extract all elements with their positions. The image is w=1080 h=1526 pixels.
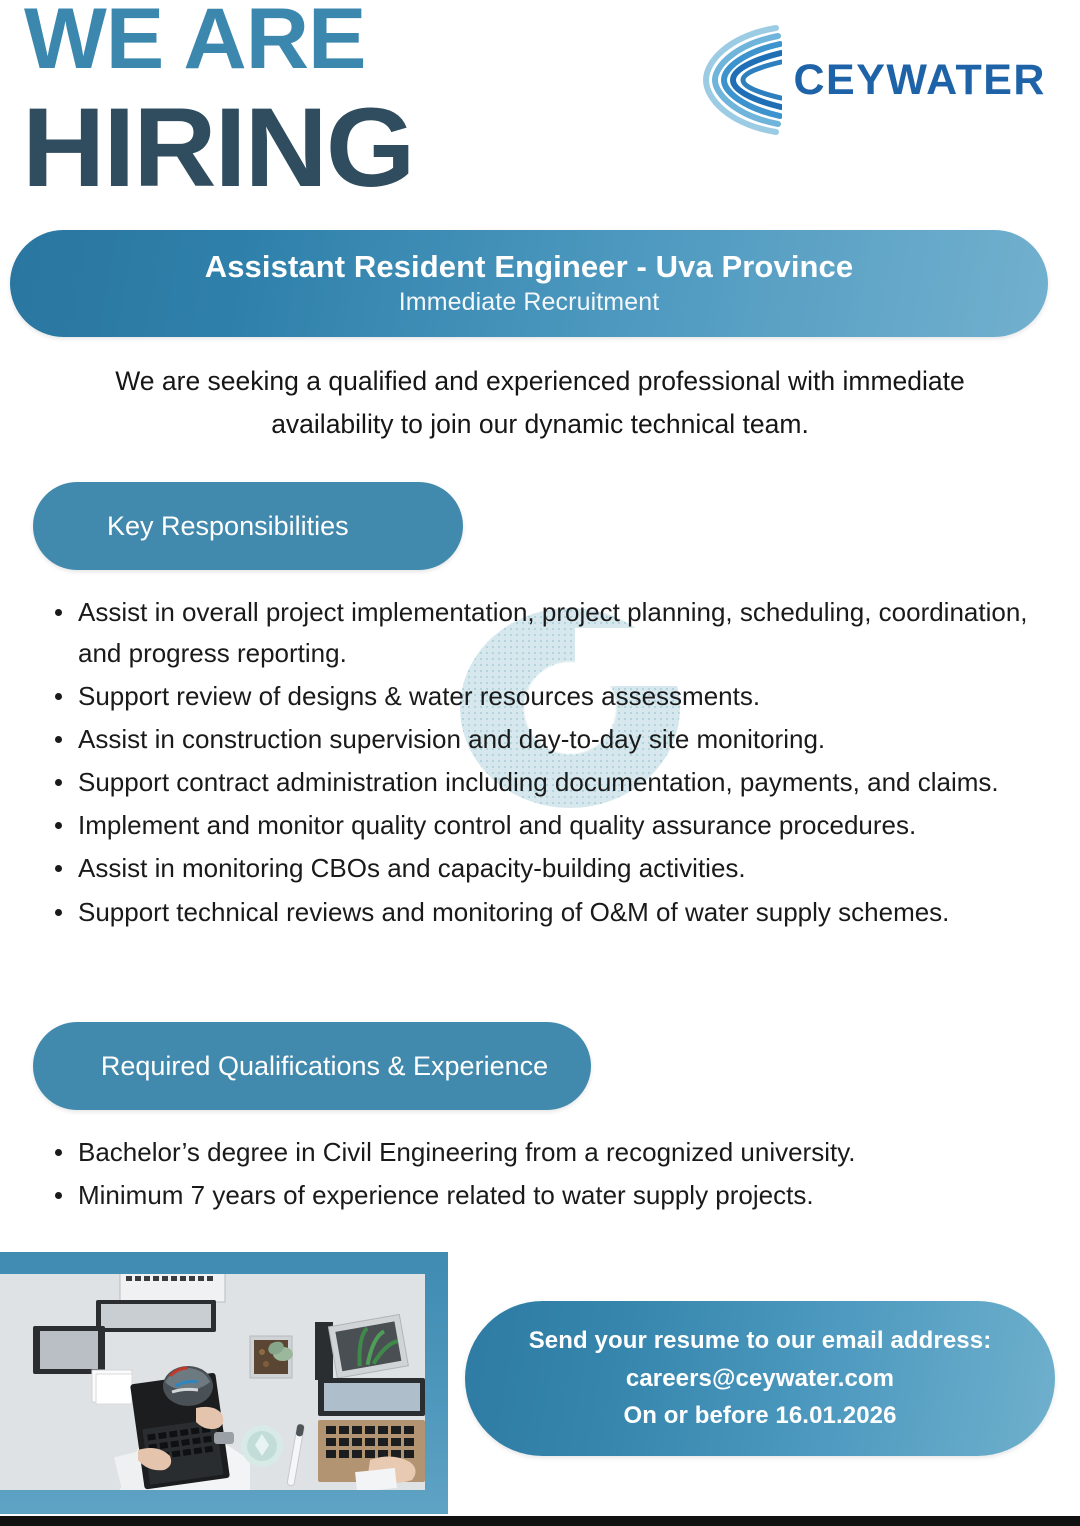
- ceywater-wordmark: CEYWATER: [794, 56, 1047, 105]
- section-heading-required-qualifications: Required Qualifications & Experience: [33, 1022, 591, 1110]
- hiring-heading: HIRING: [22, 92, 413, 204]
- list-item: Assist in monitoring CBOs and capacity-b…: [43, 848, 1033, 889]
- list-item: Assist in overall project implementation…: [43, 592, 1033, 674]
- job-subtitle: Immediate Recruitment: [399, 287, 660, 318]
- ceywater-c-arcs-logo: [698, 22, 782, 138]
- job-title-banner: Assistant Resident Engineer - Uva Provin…: [10, 230, 1048, 337]
- contact-instruction: Send your resume to our email address:: [529, 1322, 992, 1360]
- list-item: Assist in construction supervision and d…: [43, 719, 1033, 760]
- key-responsibilities-list: Assist in overall project implementation…: [43, 592, 1033, 935]
- list-item: Bachelor’s degree in Civil Engineering f…: [43, 1132, 1033, 1173]
- required-qualifications-list: Bachelor’s degree in Civil Engineering f…: [43, 1132, 1033, 1218]
- contact-pill: Send your resume to our email address: c…: [465, 1301, 1055, 1456]
- section-heading-key-responsibilities: Key Responsibilities: [33, 482, 463, 570]
- list-item: Support technical reviews and monitoring…: [43, 892, 1033, 933]
- list-item: Implement and monitor quality control an…: [43, 805, 1033, 846]
- overhead-desk-workspace-photo: [0, 1274, 425, 1490]
- intro-paragraph: We are seeking a qualified and experienc…: [90, 360, 990, 446]
- job-poster: WE ARE HIRING CEYWATER Assistant Residen…: [0, 0, 1080, 1526]
- we-are-heading: WE ARE: [24, 0, 366, 82]
- contact-deadline: On or before 16.01.2026: [623, 1397, 896, 1435]
- list-item: Minimum 7 years of experience related to…: [43, 1175, 1033, 1216]
- section-heading-label: Key Responsibilities: [107, 511, 349, 542]
- bottom-strip: [0, 1516, 1080, 1526]
- contact-email[interactable]: careers@ceywater.com: [626, 1360, 894, 1398]
- list-item: Support review of designs & water resour…: [43, 676, 1033, 717]
- list-item: Support contract administration includin…: [43, 762, 1033, 803]
- ceywater-logo: CEYWATER: [698, 22, 1047, 138]
- section-heading-label: Required Qualifications & Experience: [101, 1051, 548, 1082]
- job-title: Assistant Resident Engineer - Uva Provin…: [205, 249, 854, 285]
